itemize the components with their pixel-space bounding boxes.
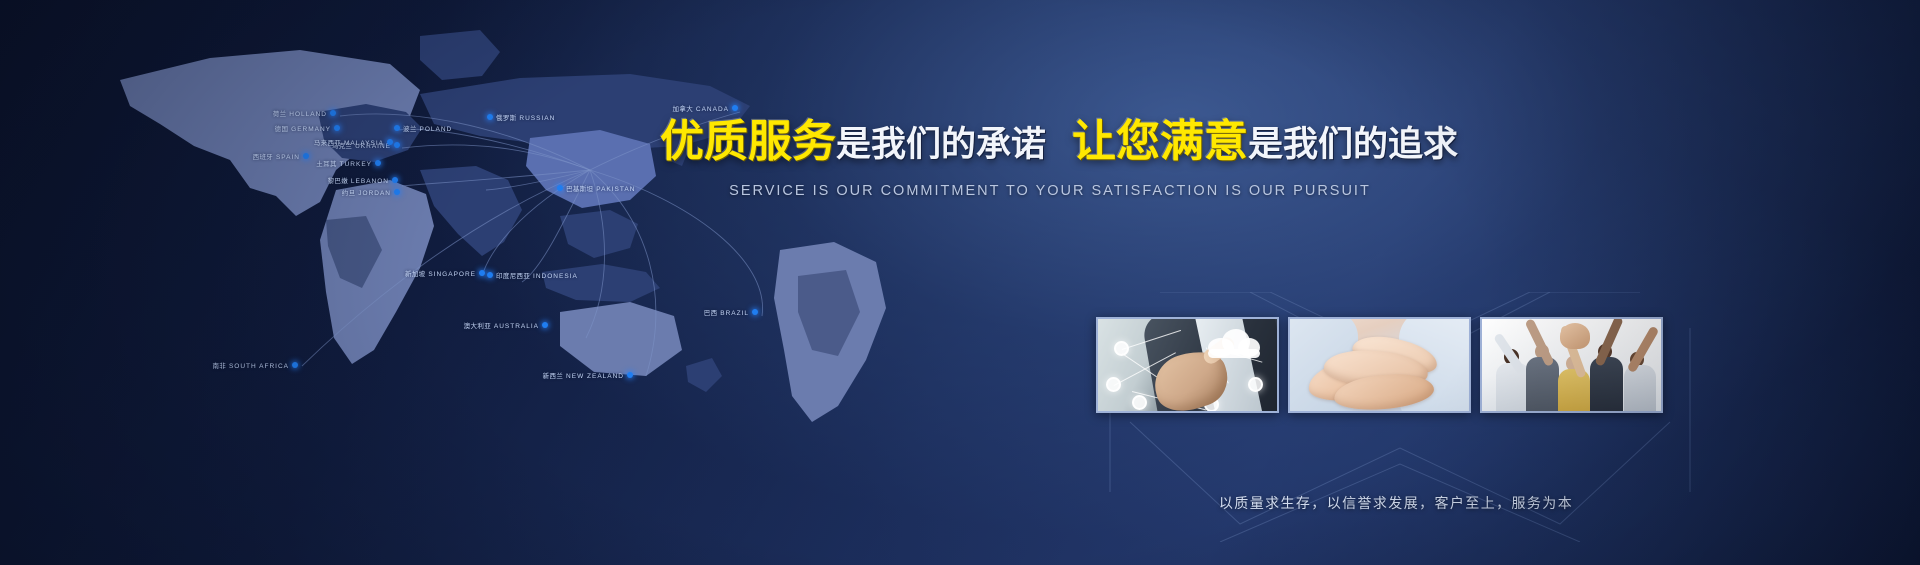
map-pin-jordan[interactable]	[394, 189, 400, 195]
map-label-russian: 俄罗斯 RUSSIAN	[496, 112, 555, 122]
stacked-hands-scene	[1290, 319, 1469, 411]
headline: 优质服务是我们的承诺让您满意是我们的追求	[660, 120, 1440, 164]
map-pin-poland[interactable]	[394, 125, 400, 131]
headline-part1-plain: 是我们的承诺	[836, 125, 1046, 164]
map-pin-south-africa[interactable]	[292, 362, 298, 368]
map-pin-germany[interactable]	[334, 125, 340, 131]
photo-team-high-five[interactable]	[1480, 317, 1663, 413]
map-label-australia: 澳大利亚 AUSTRALIA	[464, 320, 539, 330]
map-pin-indonesia[interactable]	[487, 272, 493, 278]
map-label-poland: 波兰 POLAND	[403, 123, 452, 133]
map-pin-ukraine[interactable]	[394, 142, 400, 148]
map-pin-singapore[interactable]	[479, 270, 485, 276]
map-pin-holland[interactable]	[330, 110, 336, 116]
headline-block: 优质服务是我们的承诺让您满意是我们的追求 SERVICE IS OUR COMM…	[660, 120, 1440, 199]
team-high-five-scene	[1482, 319, 1661, 411]
network-node	[1132, 395, 1147, 410]
map-label-germany: 德国 GERMANY	[275, 123, 331, 133]
headline-part1-highlight: 优质服务	[660, 117, 836, 166]
map-label-jordan: 约旦 JORDAN	[342, 187, 391, 197]
map-label-south-africa: 南非 SOUTH AFRICA	[212, 360, 289, 370]
map-label-turkey: 土耳其 TURKEY	[316, 158, 372, 168]
headline-subtitle-en: SERVICE IS OUR COMMITMENT TO YOUR SATISF…	[660, 183, 1440, 199]
map-pin-lebanon[interactable]	[392, 177, 398, 183]
map-label-pakistan: 巴基斯坦 PAKISTAN	[566, 183, 635, 193]
map-label-indonesia: 印度尼西亚 INDONESIA	[496, 270, 578, 280]
photo-cloud-network-touch[interactable]	[1096, 317, 1279, 413]
network-node	[1248, 377, 1263, 392]
photo-stacked-hands[interactable]	[1288, 317, 1471, 413]
map-pin-pakistan[interactable]	[557, 185, 563, 191]
map-label-malaysia: 马来西亚 MALAYSIA	[314, 137, 384, 147]
map-pin-turkey[interactable]	[375, 160, 381, 166]
map-label-new-zealand: 新西兰 NEW ZEALAND	[543, 370, 624, 380]
clasped-hands	[1560, 323, 1590, 349]
cloud-network-scene	[1098, 319, 1277, 411]
map-pin-brazil[interactable]	[752, 309, 758, 315]
network-node	[1106, 377, 1121, 392]
map-pin-spain[interactable]	[303, 153, 309, 159]
cloud-icon	[1202, 327, 1264, 357]
map-label-singapore: 新加坡 SINGAPORE	[405, 268, 476, 278]
map-pin-new-zealand[interactable]	[627, 372, 633, 378]
service-promise-banner: 荷兰 HOLLAND德国 GERMANY波兰 POLAND俄罗斯 RUSSIAN…	[0, 0, 1920, 565]
headline-part2-highlight: 让您满意	[1072, 117, 1248, 166]
bottom-tagline: 以质量求生存，以信誉求发展，客户至上，服务为本	[1096, 493, 1696, 513]
map-pin-canada[interactable]	[732, 105, 738, 111]
network-node	[1114, 341, 1129, 356]
map-label-lebanon: 黎巴嫩 LEBANON	[328, 175, 389, 185]
map-pin-australia[interactable]	[542, 322, 548, 328]
map-label-brazil: 巴西 BRAZIL	[704, 307, 749, 317]
world-map: 荷兰 HOLLAND德国 GERMANY波兰 POLAND俄罗斯 RUSSIAN…	[90, 20, 970, 450]
map-label-canada: 加拿大 CANADA	[673, 103, 729, 113]
map-pin-russian[interactable]	[487, 114, 493, 120]
headline-part2-plain: 是我们的追求	[1248, 125, 1458, 164]
map-pin-malaysia[interactable]	[387, 139, 393, 145]
world-map-svg	[90, 20, 970, 450]
map-label-holland: 荷兰 HOLLAND	[273, 108, 327, 118]
photo-strip	[1096, 317, 1663, 413]
map-label-spain: 西班牙 SPAIN	[253, 151, 300, 161]
